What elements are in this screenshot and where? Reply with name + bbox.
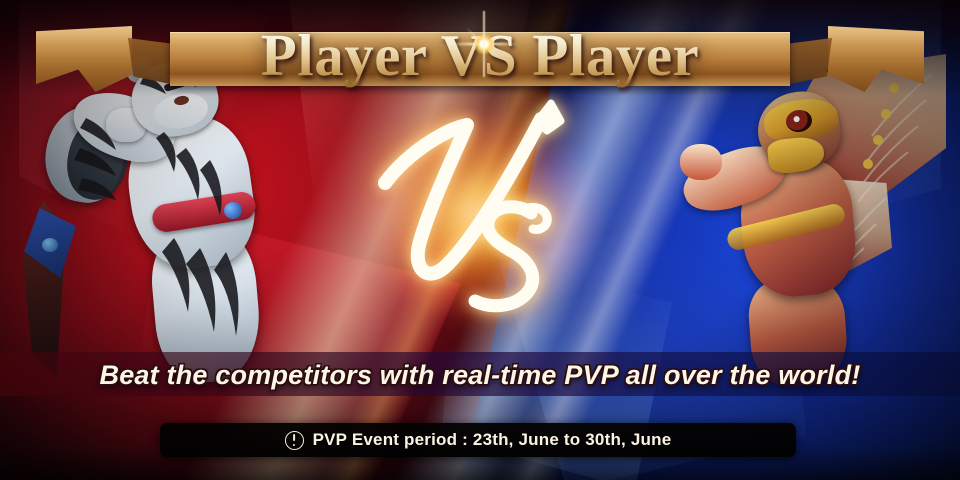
tagline-text: Beat the competitors with real-time PVP … — [0, 358, 960, 392]
page-title: Player VS Player — [0, 22, 960, 88]
bottom-shade-overlay — [0, 446, 960, 480]
pvp-event-banner: Player VS Player Beat the competitors wi… — [0, 0, 960, 480]
vs-mark-icon — [355, 87, 605, 337]
